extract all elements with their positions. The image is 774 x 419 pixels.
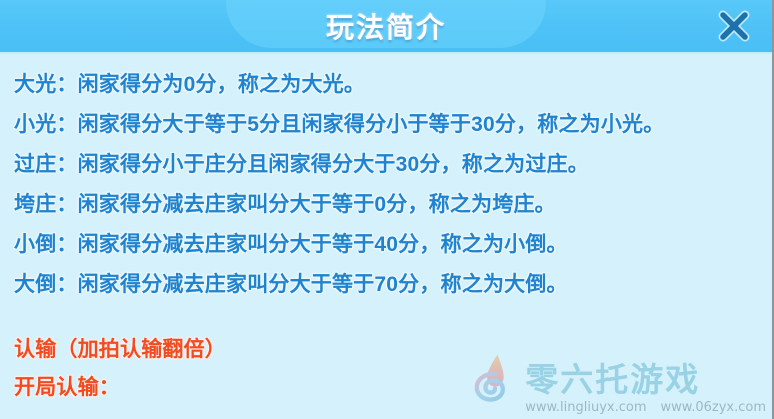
section-spacer	[14, 305, 772, 331]
dialog-title: 玩法简介	[0, 6, 772, 46]
game-intro-dialog: 玩法简介 大光：闲家得分为0分，称之为大光。 小光：闲家得分大于等于5分且闲家得…	[0, 0, 774, 419]
rule-line-daguang: 大光：闲家得分为0分，称之为大光。	[14, 65, 772, 105]
rule-line-kuazhuang: 垮庄：闲家得分减去庄家叫分大于等于0分，称之为垮庄。	[14, 185, 772, 225]
notice-heading-surrender: 认输（加拍认输翻倍）	[14, 331, 772, 369]
close-icon	[717, 9, 751, 43]
dialog-titlebar: 玩法简介	[0, 0, 772, 52]
rule-line-dadao: 大倒：闲家得分减去庄家叫分大于等于70分，称之为大倒。	[14, 265, 772, 305]
rule-line-guozhuang: 过庄：闲家得分小于庄分且闲家得分大于30分，称之为过庄。	[14, 145, 772, 185]
rule-line-xiaodao: 小倒：闲家得分减去庄家叫分大于等于40分，称之为小倒。	[14, 225, 772, 265]
dialog-body: 大光：闲家得分为0分，称之为大光。 小光：闲家得分大于等于5分且闲家得分小于等于…	[0, 55, 772, 419]
close-button[interactable]	[712, 4, 756, 48]
rule-line-xiaoguang: 小光：闲家得分大于等于5分且闲家得分小于等于30分，称之为小光。	[14, 105, 772, 145]
notice-line-opening-surrender: 开局认输：	[14, 369, 772, 407]
